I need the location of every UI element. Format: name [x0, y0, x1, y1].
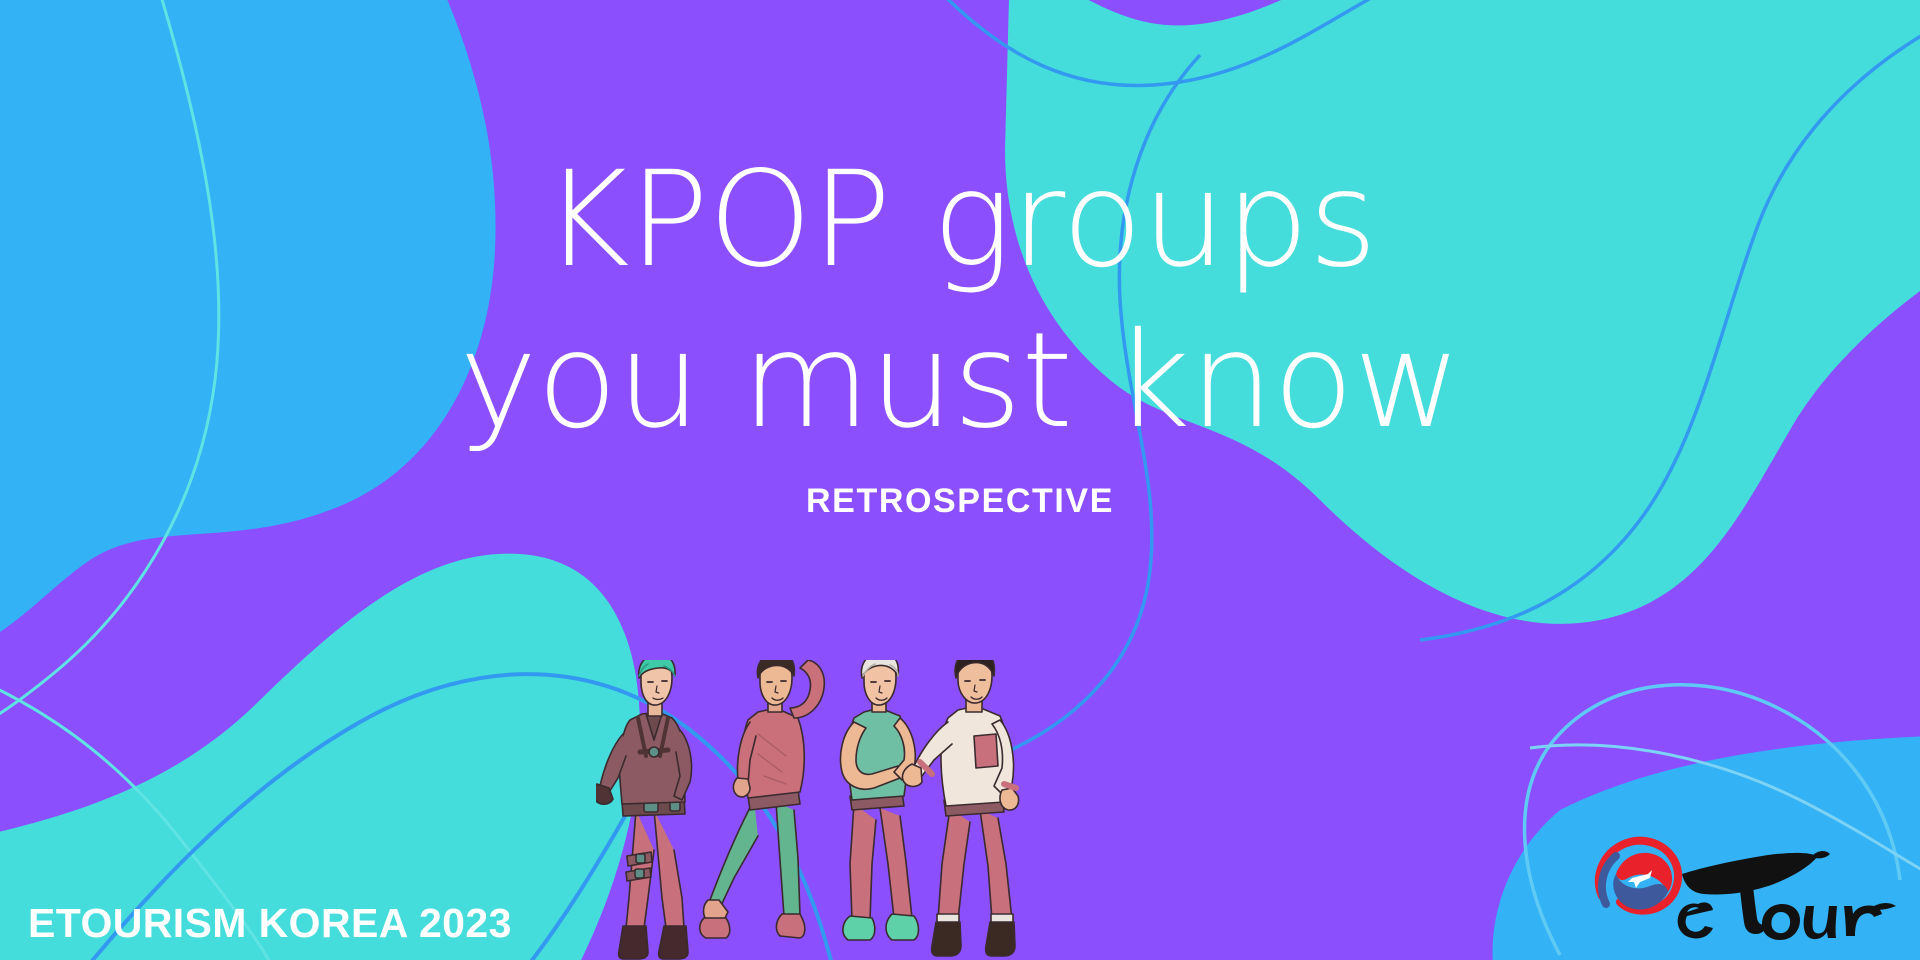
korea-taegeuk-airplane-emblem	[1599, 841, 1678, 911]
etour-logo[interactable]	[1586, 812, 1906, 952]
headline-line-1: KPOP groups	[0, 140, 1920, 301]
headline-block: KPOP groups you must know	[0, 140, 1920, 462]
dancer-figure-3	[841, 660, 919, 940]
headline-line-2: you must know	[0, 301, 1920, 462]
dancer-figure-2	[700, 660, 825, 938]
curve-top-right-blue-line	[920, 0, 1470, 86]
presentation-slide: KPOP groups you must know RETROSPECTIVE …	[0, 0, 1920, 960]
dancer-figure-4	[902, 660, 1018, 956]
subtitle: RETROSPECTIVE	[0, 482, 1920, 521]
dancer-figure-1	[596, 660, 692, 959]
etour-wordmark	[1678, 851, 1896, 940]
four-kpop-dancers-illustration	[596, 660, 1056, 960]
footer-event-label: ETOURISM KOREA 2023	[28, 900, 512, 947]
